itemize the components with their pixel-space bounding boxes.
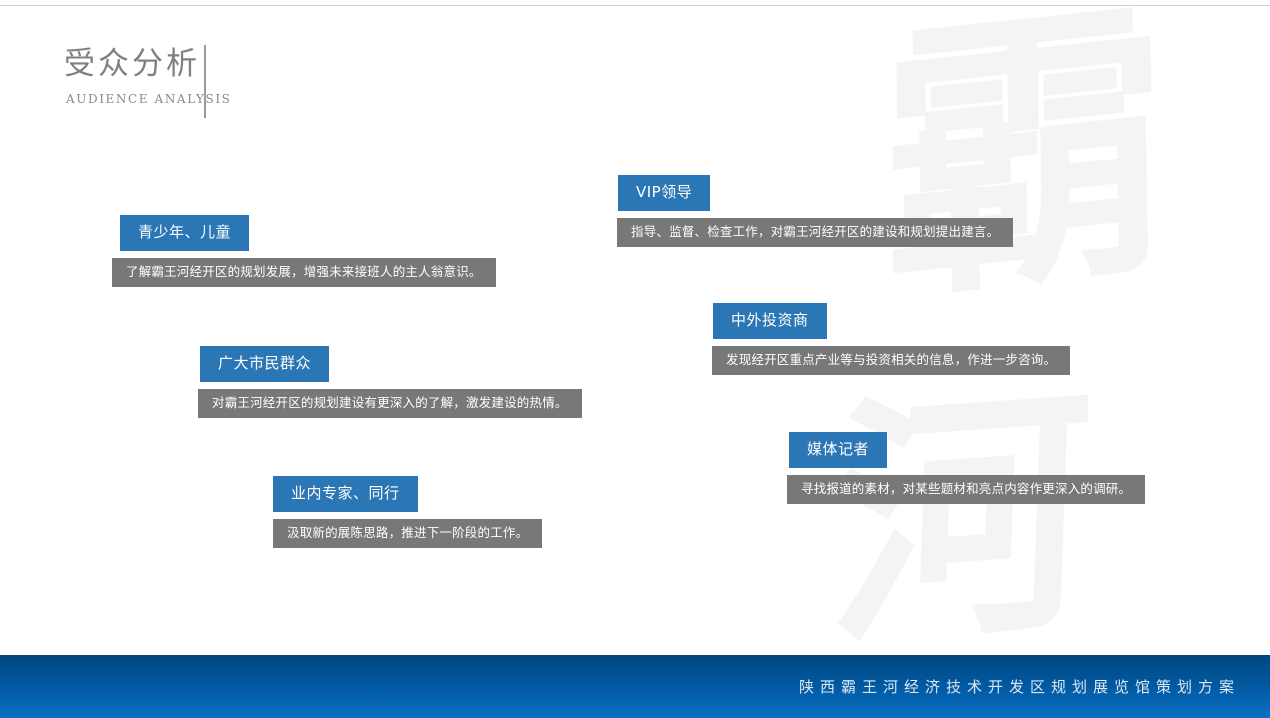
audience-group-description: 发现经开区重点产业等与投资相关的信息，作进一步咨询。 xyxy=(712,346,1070,375)
audience-group-description: 了解霸王河经开区的规划发展，增强未来接班人的主人翁意识。 xyxy=(112,258,496,287)
page-title-block: 受众分析 AUDIENCE ANALYSIS xyxy=(64,44,232,108)
footer-title: 陕西霸王河经济技术开发区规划展览馆策划方案 xyxy=(799,677,1240,697)
audience-group-youth: 青少年、儿童 了解霸王河经开区的规划发展，增强未来接班人的主人翁意识。 xyxy=(120,215,496,287)
title-accent-bar xyxy=(204,45,206,118)
audience-group-label: 中外投资商 xyxy=(713,303,827,339)
audience-group-description: 寻找报道的素材，对某些题材和亮点内容作更深入的调研。 xyxy=(787,475,1145,504)
audience-group-description: 指导、监督、检查工作，对霸王河经开区的建设和规划提出建言。 xyxy=(617,218,1013,247)
footer-band: 陕西霸王河经济技术开发区规划展览馆策划方案 xyxy=(0,655,1270,718)
audience-group-citizens: 广大市民群众 对霸王河经开区的规划建设有更深入的了解，激发建设的热情。 xyxy=(200,346,582,418)
audience-group-label: 媒体记者 xyxy=(789,432,887,468)
watermark-character-bottom: 河 xyxy=(826,380,1094,659)
page-subtitle: AUDIENCE ANALYSIS xyxy=(66,90,232,108)
slide-canvas: 霸 河 受众分析 AUDIENCE ANALYSIS 青少年、儿童 了解霸王河经… xyxy=(0,0,1270,718)
page-title: 受众分析 xyxy=(64,44,232,84)
watermark-character-top: 霸 xyxy=(878,0,1171,316)
audience-group-label: 广大市民群众 xyxy=(200,346,329,382)
audience-group-investors: 中外投资商 发现经开区重点产业等与投资相关的信息，作进一步咨询。 xyxy=(713,303,1070,375)
audience-group-description: 汲取新的展陈思路，推进下一阶段的工作。 xyxy=(273,519,542,548)
audience-group-experts: 业内专家、同行 汲取新的展陈思路，推进下一阶段的工作。 xyxy=(273,476,542,548)
audience-group-media: 媒体记者 寻找报道的素材，对某些题材和亮点内容作更深入的调研。 xyxy=(789,432,1145,504)
audience-group-description: 对霸王河经开区的规划建设有更深入的了解，激发建设的热情。 xyxy=(198,389,582,418)
audience-group-vip: VIP领导 指导、监督、检查工作，对霸王河经开区的建设和规划提出建言。 xyxy=(618,175,1013,247)
audience-group-label: 业内专家、同行 xyxy=(273,476,418,512)
audience-group-label: 青少年、儿童 xyxy=(120,215,249,251)
top-divider-rule xyxy=(0,5,1270,6)
audience-group-label: VIP领导 xyxy=(618,175,710,211)
